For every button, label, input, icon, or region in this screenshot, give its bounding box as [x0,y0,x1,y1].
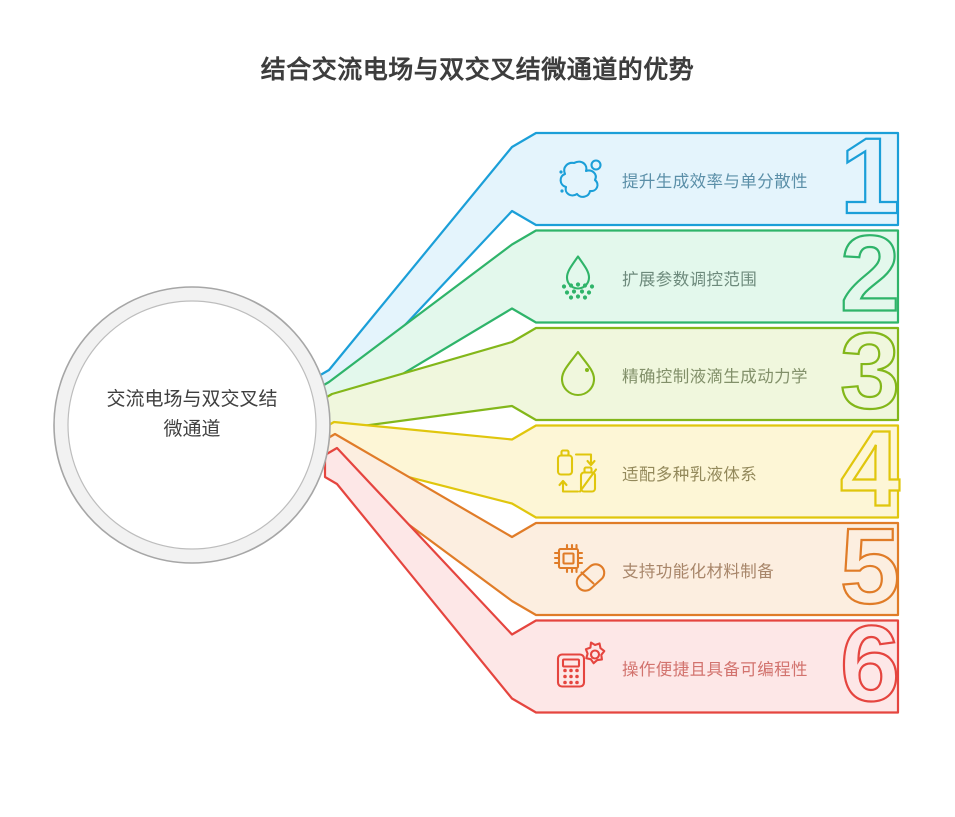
ribbon-label-3: 精确控制液滴生成动力学 [622,363,808,387]
ribbon-group [317,133,898,713]
ribbon-label-5: 支持功能化材料制备 [622,558,774,582]
ribbon-label-1: 提升生成效率与单分散性 [622,168,808,192]
number-group: 123456 [840,115,900,724]
center-label: 交流电场与双交叉结 微通道 [72,385,312,445]
ribbon-label-2: 扩展参数调控范围 [622,266,757,290]
infographic-root: 结合交流电场与双交叉结微通道的优势 123456 交流电场与双交叉结 微通道 提… [0,0,955,817]
ribbon-number-6: 6 [840,603,900,724]
ribbon-label-6: 操作便捷且具备可编程性 [622,656,808,680]
center-label-line2: 微通道 [72,415,312,445]
ribbon-label-4: 适配多种乳液体系 [622,461,757,485]
center-label-line1: 交流电场与双交叉结 [72,385,312,415]
